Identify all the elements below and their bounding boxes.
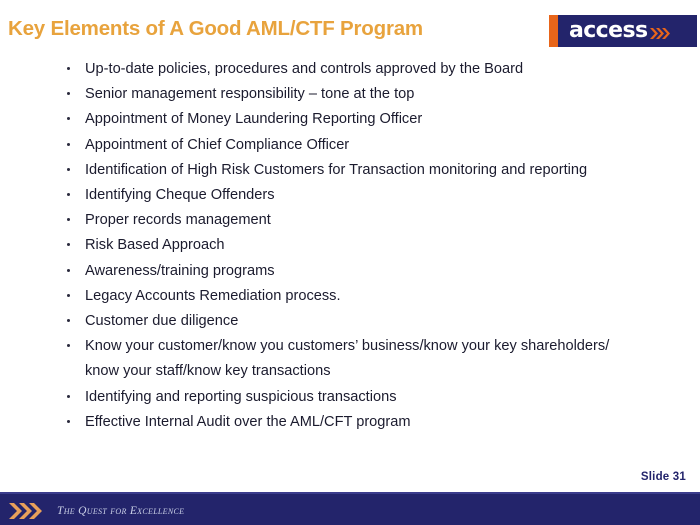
list-item: Risk Based Approach xyxy=(62,233,662,258)
list-item: Appointment of Chief Compliance Officer xyxy=(62,133,662,158)
list-item: Up-to-date policies, procedures and cont… xyxy=(62,57,662,82)
list-item: Legacy Accounts Remediation process. xyxy=(62,284,662,309)
footer-bar: The Quest for Excellence xyxy=(0,492,700,525)
list-item-label: Legacy Accounts Remediation process. xyxy=(85,288,341,304)
list-item: Proper records management xyxy=(62,208,662,233)
list-item: Identifying and reporting suspicious tra… xyxy=(62,385,662,410)
footer-tagline: The Quest for Excellence xyxy=(57,505,184,517)
bullet-dot-icon xyxy=(67,168,70,171)
list-item: Customer due diligence xyxy=(62,309,662,334)
list-item-label: Risk Based Approach xyxy=(85,237,225,253)
access-logo: access xyxy=(549,15,697,47)
bullet-list: Up-to-date policies, procedures and cont… xyxy=(62,57,662,435)
bullet-dot-icon xyxy=(67,67,70,70)
list-item-label: Identifying Cheque Offenders xyxy=(85,187,275,203)
slide-number: Slide 31 xyxy=(641,471,686,483)
list-item-label: Proper records management xyxy=(85,212,271,228)
list-item-label: Senior management responsibility – tone … xyxy=(85,86,414,102)
bullet-dot-icon xyxy=(67,92,70,95)
bullet-dot-icon xyxy=(67,420,70,423)
list-item-label: Awareness/training programs xyxy=(85,263,275,279)
presentation-slide: Key Elements of A Good AML/CTF Program a… xyxy=(0,0,700,525)
bullet-dot-icon xyxy=(67,395,70,398)
list-item: Awareness/training programs xyxy=(62,259,662,284)
list-item-label: Appointment of Chief Compliance Officer xyxy=(85,137,349,153)
bullet-dot-icon xyxy=(67,243,70,246)
bullet-dot-icon xyxy=(67,193,70,196)
bullet-dot-icon xyxy=(67,344,70,347)
list-item: Know your customer/know you customers’ b… xyxy=(62,334,641,384)
list-item: Appointment of Money Laundering Reportin… xyxy=(62,107,662,132)
logo-box: access xyxy=(558,15,697,47)
bullet-dot-icon xyxy=(67,319,70,322)
logo-wordmark: access xyxy=(569,20,647,42)
list-item-label: Identification of High Risk Customers fo… xyxy=(85,162,587,178)
list-item-label: Identifying and reporting suspicious tra… xyxy=(85,389,397,405)
bullet-dot-icon xyxy=(67,143,70,146)
list-item-label: Appointment of Money Laundering Reportin… xyxy=(85,111,422,127)
list-item-label: Up-to-date policies, procedures and cont… xyxy=(85,61,523,77)
bullet-dot-icon xyxy=(67,294,70,297)
list-item-label: Know your customer/know you customers’ b… xyxy=(85,338,609,379)
logo-chevrons-icon xyxy=(650,28,672,39)
footer-chevrons-icon xyxy=(9,503,49,519)
page-title: Key Elements of A Good AML/CTF Program xyxy=(8,17,528,41)
logo-accent-bar xyxy=(549,15,558,47)
list-item: Identifying Cheque Offenders xyxy=(62,183,662,208)
list-item: Identification of High Risk Customers fo… xyxy=(62,158,641,183)
list-item-label: Effective Internal Audit over the AML/CF… xyxy=(85,414,411,430)
bullet-dot-icon xyxy=(67,269,70,272)
bullet-dot-icon xyxy=(67,218,70,221)
list-item: Effective Internal Audit over the AML/CF… xyxy=(62,410,662,435)
list-item-label: Customer due diligence xyxy=(85,313,238,329)
list-item: Senior management responsibility – tone … xyxy=(62,82,662,107)
bullet-dot-icon xyxy=(67,117,70,120)
